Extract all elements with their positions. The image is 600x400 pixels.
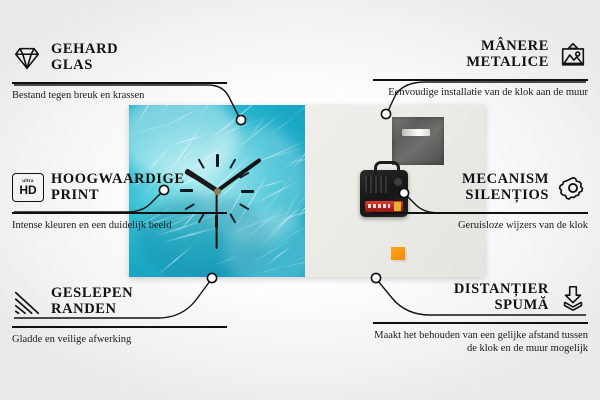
hanger-slot: [402, 129, 430, 136]
feature-header: GEHARDGLAS: [12, 38, 227, 78]
feature-title: GESLEPENRANDEN: [51, 286, 133, 317]
feature-title: DISTANȚIERSPUMĂ: [454, 282, 549, 313]
feature-title: GEHARDGLAS: [51, 42, 118, 73]
feature-description: Eenvoudige installatie van de klok aan d…: [373, 86, 588, 100]
divider: [373, 212, 588, 214]
diamond-icon: [12, 43, 42, 73]
feature-description: Bestand tegen breuk en krassen: [12, 89, 227, 103]
feature-title: HOOGWAARDIGEPRINT: [51, 172, 185, 203]
divider: [373, 79, 588, 81]
divider: [12, 326, 227, 328]
metal-hanger-icon: [392, 117, 444, 165]
feature-gehard-glas: GEHARDGLAS Bestand tegen breuk en krasse…: [12, 38, 227, 102]
feature-header: MÂNEREMETALICE: [373, 35, 588, 75]
infographic-canvas: GEHARDGLAS Bestand tegen breuk en krasse…: [0, 0, 600, 400]
divider: [373, 322, 588, 324]
divider: [12, 82, 227, 84]
down-arrow-platform-icon: [558, 283, 588, 313]
feature-header: GESLEPENRANDEN: [12, 282, 227, 322]
feature-title: MECANISMSILENȚIOS: [462, 172, 549, 203]
feature-header: DISTANȚIERSPUMĂ: [373, 278, 588, 318]
picture-frame-icon: [558, 40, 588, 70]
feature-title: MÂNEREMETALICE: [466, 39, 549, 70]
feature-distantier-spuma: DISTANȚIERSPUMĂ Maakt het behouden van e…: [373, 278, 588, 356]
feature-description: Geruisloze wijzers van de klok: [373, 219, 588, 233]
feature-mecanism-silentios: MECANISMSILENȚIOS Geruisloze wijzers van…: [373, 168, 588, 232]
gear-icon: [558, 173, 588, 203]
feature-header: MECANISMSILENȚIOS: [373, 168, 588, 208]
ultra-hd-large-text: HD: [19, 184, 36, 196]
foam-spacer: [391, 247, 405, 260]
feature-description: Intense kleuren en een duidelijk beeld: [12, 219, 227, 233]
feature-description: Maakt het behouden van een gelijke afsta…: [373, 329, 588, 357]
feature-description: Gladde en veilige afwerking: [12, 333, 227, 347]
feature-geslepen-randen: GESLEPENRANDEN Gladde en veilige afwerki…: [12, 282, 227, 346]
feature-header: ultra HD HOOGWAARDIGEPRINT: [12, 168, 227, 208]
beveled-edge-icon: [12, 287, 42, 317]
feature-manere-metalice: MÂNEREMETALICE Eenvoudige installatie va…: [373, 35, 588, 99]
divider: [12, 212, 227, 214]
feature-hoogwaardige-print: ultra HD HOOGWAARDIGEPRINT Intense kleur…: [12, 168, 227, 232]
ultra-hd-icon: ultra HD: [12, 173, 42, 203]
